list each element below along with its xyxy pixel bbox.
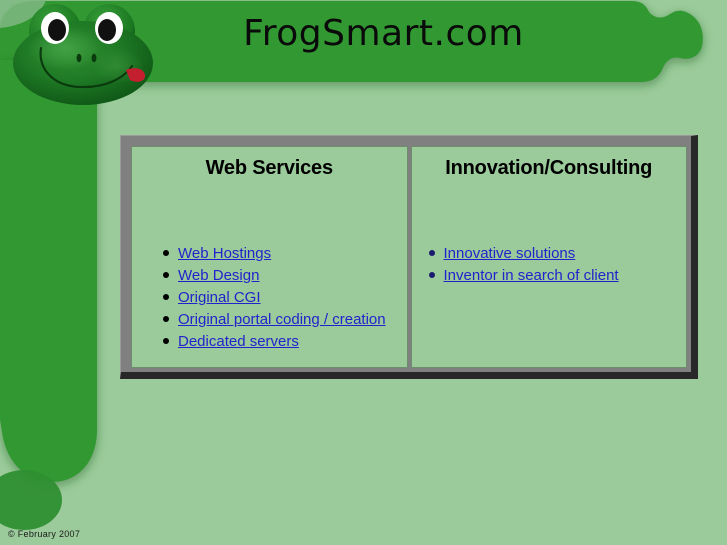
link-innovative-solutions[interactable]: Innovative solutions xyxy=(444,245,576,262)
bullet-icon xyxy=(163,272,169,278)
panel-title-innovation-consulting: Innovation/Consulting xyxy=(412,157,687,180)
link-original-portal-coding[interactable]: Original portal coding / creation xyxy=(178,311,386,328)
list-item: Web Hostings xyxy=(178,246,407,261)
list-item: Web Design xyxy=(178,268,407,283)
list-item: Original portal coding / creation xyxy=(178,312,407,327)
bullet-icon xyxy=(163,294,169,300)
panel-innovation-consulting: Innovation/Consulting Innovative solutio… xyxy=(411,146,688,368)
link-web-design[interactable]: Web Design xyxy=(178,267,259,284)
bullet-icon xyxy=(163,316,169,322)
link-original-cgi[interactable]: Original CGI xyxy=(178,289,261,306)
bullet-icon xyxy=(163,338,169,344)
innovation-list: Innovative solutions Inventor in search … xyxy=(412,246,687,283)
list-item: Original CGI xyxy=(178,290,407,305)
web-services-list: Web Hostings Web Design Original CGI xyxy=(132,246,407,349)
page-root: FrogSmart.com Web Services Web Hostings xyxy=(0,0,727,545)
sidebar-bottom-blob xyxy=(0,470,62,530)
list-item: Inventor in search of client xyxy=(444,268,687,283)
content-frame: Web Services Web Hostings Web Design xyxy=(120,135,698,379)
services-table: Web Services Web Hostings Web Design xyxy=(128,143,690,371)
panel-web-services: Web Services Web Hostings Web Design xyxy=(131,146,408,368)
sidebar-green-column xyxy=(0,60,97,482)
list-item: Dedicated servers xyxy=(178,334,407,349)
bullet-icon xyxy=(163,250,169,256)
copyright-notice: © February 2007 xyxy=(8,529,80,539)
bullet-icon xyxy=(429,250,435,256)
page-title: FrogSmart.com xyxy=(0,14,727,54)
link-web-hostings[interactable]: Web Hostings xyxy=(178,245,271,262)
bullet-icon xyxy=(429,272,435,278)
panel-title-web-services: Web Services xyxy=(132,157,407,180)
list-item: Innovative solutions xyxy=(444,246,687,261)
link-dedicated-servers[interactable]: Dedicated servers xyxy=(178,333,299,350)
link-inventor-in-search-of-client[interactable]: Inventor in search of client xyxy=(444,267,619,284)
